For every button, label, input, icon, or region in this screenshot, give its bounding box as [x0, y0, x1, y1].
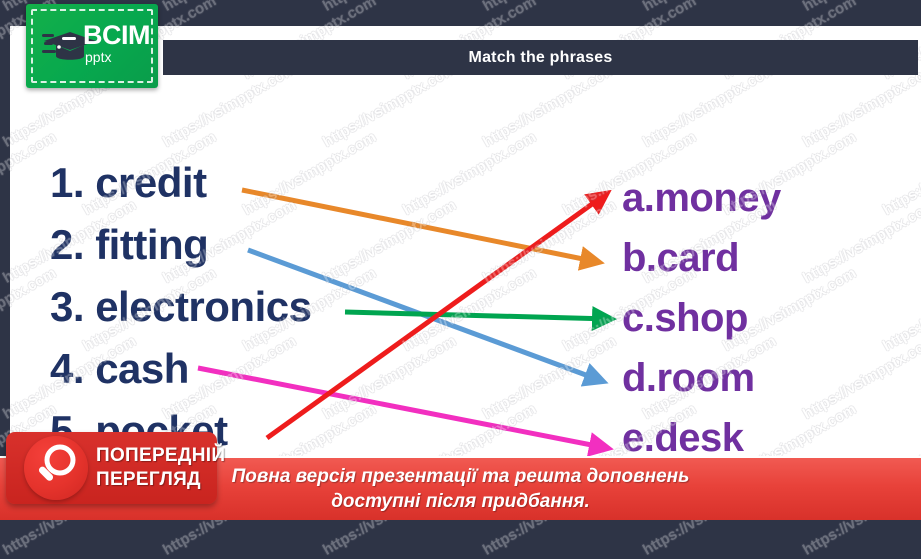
slide-viewer: 1. credit 2. fitting 3. electronics 4. c… — [0, 0, 921, 518]
watermark-text: https://vsimpptx.com — [320, 0, 459, 15]
preview-badge: ПОПЕРЕДНІЙ ПЕРЕГЛЯД — [6, 432, 217, 504]
right-item-a[interactable]: a.money — [622, 168, 781, 228]
left-item-4[interactable]: 4. cash — [50, 338, 311, 400]
notice-line-1: Повна версія презентації та решта доповн… — [232, 464, 690, 489]
connector-electronics-shop — [345, 312, 610, 319]
magnifier-icon — [24, 436, 88, 500]
logo-subtitle: pptx — [85, 50, 150, 64]
left-item-1[interactable]: 1. credit — [50, 152, 311, 214]
page-title: Match the phrases — [469, 49, 613, 67]
left-item-3[interactable]: 3. electronics — [50, 276, 311, 338]
slide-title-bar: Match the phrases — [163, 40, 918, 75]
preview-badge-line-1: ПОПЕРЕДНІЙ — [96, 444, 225, 468]
watermark-text: https://vsimpptx.com — [480, 0, 619, 15]
logo-text: BCIM pptx — [83, 22, 150, 64]
left-item-2[interactable]: 2. fitting — [50, 214, 311, 276]
watermark-text: https://vsimpptx.com — [800, 0, 921, 15]
right-phrase-column: a.money b.card c.shop d.room e.desk — [622, 168, 781, 468]
connector-pocket-money — [267, 194, 606, 438]
right-item-c[interactable]: c.shop — [622, 288, 781, 348]
watermark-text: https://vsimpptx.com — [160, 0, 299, 15]
preview-badge-text: ПОПЕРЕДНІЙ ПЕРЕГЛЯД — [96, 444, 225, 492]
right-item-d[interactable]: d.room — [622, 348, 781, 408]
watermark-text: https://vsimpptx.com — [640, 0, 779, 15]
preview-badge-line-2: ПЕРЕГЛЯД — [96, 468, 225, 492]
notice-line-2: доступні після придбання. — [331, 489, 590, 514]
right-item-b[interactable]: b.card — [622, 228, 781, 288]
logo-name: BCIM — [83, 22, 150, 49]
left-phrase-column: 1. credit 2. fitting 3. electronics 4. c… — [50, 152, 311, 462]
brand-logo: BCIM pptx — [26, 4, 158, 88]
